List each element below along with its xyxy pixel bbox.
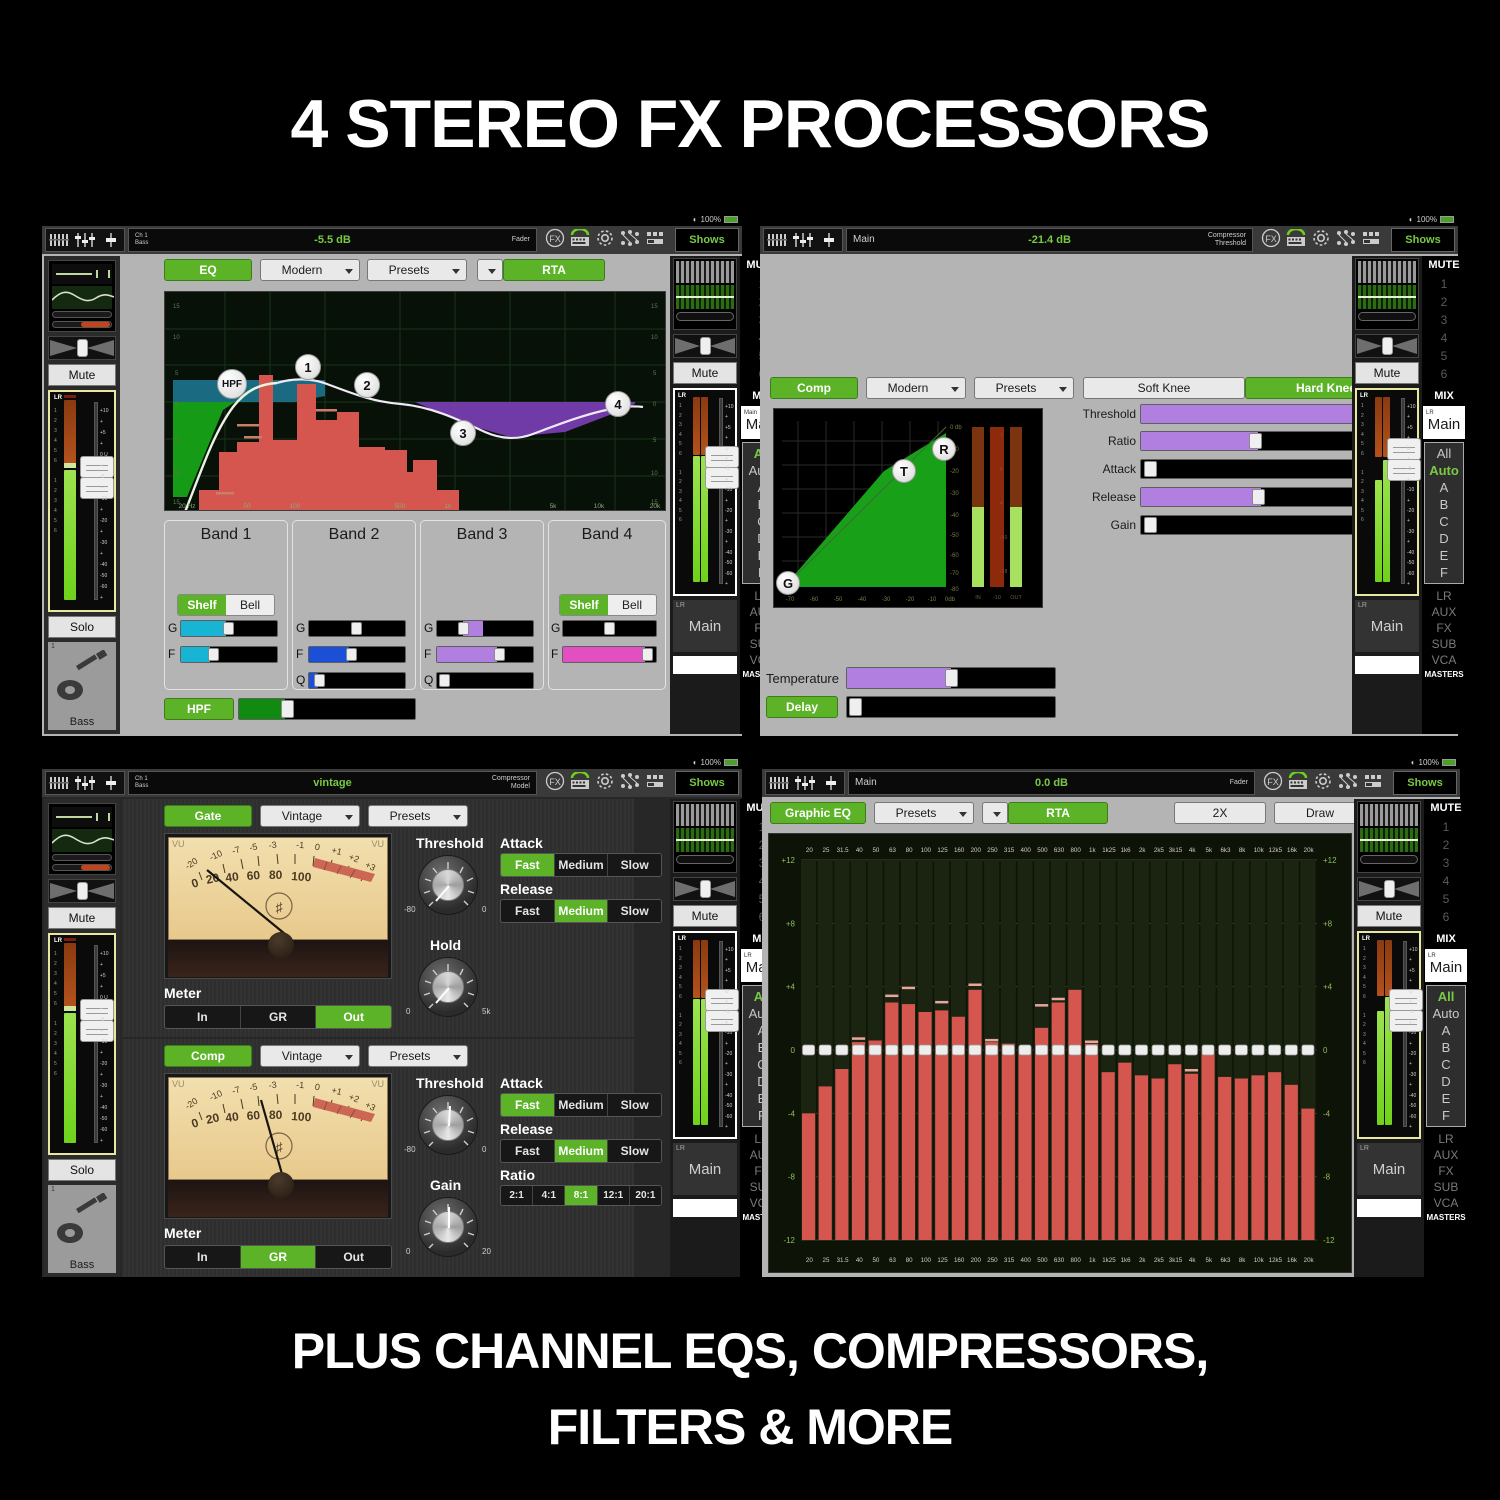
svg-text:0: 0 (314, 1082, 320, 1093)
keyboard-icon[interactable] (569, 772, 591, 795)
comp2-model-select[interactable]: Vintage (260, 1045, 360, 1067)
svg-text:125: 125 (937, 847, 948, 854)
param-name-2: Compressor (1208, 232, 1246, 240)
mute-button-right-4[interactable]: Mute (1357, 905, 1421, 927)
svg-text:1k25: 1k25 (1102, 1257, 1116, 1264)
mix-item-c-4[interactable]: C (1427, 1056, 1465, 1073)
gate-attack-medium[interactable]: Medium (555, 854, 609, 876)
channels-icon[interactable] (766, 772, 792, 794)
gate-attack-label: Attack (500, 835, 543, 851)
mute-numbers-2[interactable]: 123456 (1422, 275, 1466, 383)
mix-item-f-2[interactable]: F (1425, 564, 1463, 581)
svg-text:160: 160 (954, 847, 965, 854)
gate-meter-out[interactable]: Out (316, 1006, 391, 1028)
band-2-q-slider[interactable] (308, 672, 406, 689)
svg-text:25: 25 (823, 847, 830, 854)
rta-toggle-button[interactable]: RTA (503, 259, 605, 281)
mix-item-d-4[interactable]: D (1427, 1073, 1465, 1090)
mix-item-a-2[interactable]: A (1425, 479, 1463, 496)
svg-text:FX: FX (1267, 777, 1279, 787)
comp-presets-select[interactable]: Presets (974, 377, 1074, 399)
svg-text:250: 250 (987, 1257, 998, 1264)
channels-icon[interactable] (764, 229, 790, 251)
geq-draw-button[interactable]: Draw (1274, 802, 1366, 824)
bus-sub-4[interactable]: SUB (1424, 1179, 1468, 1195)
comp2-presets-select[interactable]: Presets (368, 1045, 468, 1067)
mix-bottom-list-2[interactable]: LR AUX FX SUB VCA (1422, 588, 1466, 668)
gate-hold-min: 0 (406, 1007, 410, 1016)
band-2: Band 2 G F Q (292, 520, 416, 690)
band-2-g-label: G (296, 621, 305, 635)
mix-main-2[interactable]: Main (1423, 416, 1465, 433)
svg-text:50: 50 (243, 503, 251, 510)
svg-text:2k: 2k (1139, 847, 1146, 854)
svg-text:400: 400 (1021, 847, 1032, 854)
bus-sub-2[interactable]: SUB (1422, 636, 1466, 652)
battery-percent: 100% (701, 215, 721, 224)
gate-meter-label: Meter (164, 985, 201, 1001)
svg-text:12k5: 12k5 (1269, 847, 1283, 854)
mixer-icon[interactable] (72, 229, 98, 251)
ratio-8-1[interactable]: 8:1 (565, 1186, 597, 1205)
pan-control-right[interactable] (673, 334, 737, 358)
svg-text:40: 40 (856, 847, 863, 854)
comp-release-segment[interactable]: Fast Medium Slow (500, 1139, 662, 1163)
svg-text:4: 4 (1000, 501, 1003, 507)
channel-source-tile-3[interactable]: 1 Bass (48, 1185, 116, 1273)
mix-main-4[interactable]: Main (1425, 959, 1467, 976)
comp-threshold-knob[interactable] (418, 1095, 478, 1155)
pan-control-3[interactable] (48, 879, 116, 903)
pan-control-right-4[interactable] (1357, 877, 1421, 901)
gate-release-medium[interactable]: Medium (555, 900, 609, 922)
channel-info-bar[interactable]: Ch 1Bass -5.5 dB Fader (128, 228, 537, 252)
fader-icon[interactable] (98, 772, 124, 794)
comp-meter-gr[interactable]: GR (241, 1246, 317, 1268)
channel-info-bar-2[interactable]: Main -21.4 dB CompressorThreshold (846, 228, 1253, 252)
routing-icon[interactable] (619, 772, 641, 795)
gate-hold-knob[interactable] (418, 957, 478, 1017)
svg-text:-70: -70 (950, 571, 959, 577)
source-number: 1 (51, 643, 55, 650)
keyboard-icon[interactable] (569, 229, 591, 252)
fader-area-right[interactable]: LR 123456123456 +10++5+U+-5+-10+-20+-30+… (673, 388, 737, 596)
meters-icon[interactable] (645, 230, 667, 251)
status-bar-2: ◐ 100% (760, 212, 1458, 226)
comp-meter-in[interactable]: In (165, 1246, 241, 1268)
mini-display-right-2[interactable] (1355, 258, 1419, 330)
comp-threshold-min: -80 (404, 1145, 416, 1154)
main-tile-right-2[interactable]: LR Main (1355, 600, 1419, 652)
fader-icon[interactable] (98, 229, 124, 251)
comp-vu-meter[interactable]: -20-10 -7-5 -3-1 0+1 +2+3 (164, 1073, 392, 1219)
meters-icon[interactable] (645, 773, 667, 794)
gate-vu-meter[interactable]: -20-10 -7-5 -3-1 0+1 +2+3 (164, 833, 392, 979)
geq-zoom-2x-button[interactable]: 2X (1174, 802, 1266, 824)
mix-item-auto-2[interactable]: Auto (1425, 462, 1463, 479)
gear-icon[interactable] (1313, 771, 1333, 796)
band-2-g-slider[interactable] (308, 620, 406, 637)
comp-node-r[interactable]: R (932, 437, 956, 461)
geq-rta-dropdown[interactable] (982, 802, 1008, 824)
source-name: Bass (48, 716, 116, 728)
band-3-f-slider[interactable] (436, 646, 534, 663)
masters-label-2: MASTERS (1422, 670, 1466, 679)
fx-icon[interactable]: FX (545, 228, 565, 253)
channel-info-bar-4[interactable]: Main 0.0 dB Fader (848, 771, 1255, 795)
mix-item-auto-4[interactable]: Auto (1427, 1005, 1465, 1022)
svg-text:1k25: 1k25 (1102, 847, 1116, 854)
gate-toggle-button[interactable]: Gate (164, 805, 252, 827)
band-1-f-slider[interactable] (180, 646, 278, 663)
svg-text:+8: +8 (786, 919, 796, 928)
fader-area[interactable]: LR 123456123456 +10++5+0 U+-5+-10+-20+-3… (48, 390, 116, 612)
svg-text:6: 6 (1000, 467, 1003, 473)
band-3-g-slider[interactable] (436, 620, 534, 637)
svg-text:-40: -40 (950, 513, 959, 519)
fader-area-right-2[interactable]: LR 123456123456 +10++5+U+-5+-10+-20+-30+… (1355, 388, 1419, 596)
view-mode-group[interactable] (45, 228, 125, 252)
wifi-icon: ◐ (693, 758, 698, 767)
band-3-q-slider[interactable] (436, 672, 534, 689)
svg-text:800: 800 (1070, 1257, 1081, 1264)
fx-icon[interactable]: FX (545, 771, 565, 796)
comp-attack-fast[interactable]: Fast (501, 1094, 555, 1116)
svg-text:-30: -30 (882, 597, 891, 603)
svg-text:+12: +12 (781, 856, 795, 865)
comp-node-g[interactable]: G (776, 571, 800, 595)
svg-text:-30: -30 (950, 491, 959, 497)
gate-meter-gr[interactable]: GR (241, 1006, 317, 1028)
ratio-12-1[interactable]: 12:1 (598, 1186, 630, 1205)
mixer-icon[interactable] (792, 772, 818, 794)
gear-icon[interactable] (595, 228, 615, 253)
hpf-button[interactable]: HPF (164, 698, 234, 720)
comp-attack-medium[interactable]: Medium (555, 1094, 609, 1116)
delay-button[interactable]: Delay (766, 696, 838, 718)
param-sub-2: Threshold (1208, 240, 1246, 248)
status-bar: ◐ 100% (42, 212, 742, 226)
view-mode-group-3[interactable] (45, 771, 125, 795)
fader-area-right-3[interactable]: LR 123456123456 +10++5+U+-5+-10+-20+-30+… (673, 931, 737, 1139)
gear-icon[interactable] (595, 771, 615, 796)
comp-release-slow[interactable]: Slow (608, 1140, 661, 1162)
mix-bus-list-4[interactable]: All Auto A B C D E F (1426, 985, 1466, 1127)
shows-button[interactable]: Shows (675, 228, 739, 252)
bass-guitar-icon (48, 1193, 114, 1251)
masters-label-4: MASTERS (1424, 1213, 1468, 1222)
main-tile-right-3[interactable]: LR Main (673, 1143, 737, 1195)
ratio-4-1[interactable]: 4:1 (533, 1186, 565, 1205)
band-1-f-label: F (168, 647, 175, 661)
mini-display-right-4[interactable] (1357, 801, 1421, 873)
comp-attack-slow[interactable]: Slow (608, 1094, 661, 1116)
lr-label-right-4: LR (1362, 936, 1370, 942)
svg-text:25: 25 (823, 1257, 830, 1264)
gate-model-select[interactable]: Vintage (260, 805, 360, 827)
mixer-icon[interactable] (790, 229, 816, 251)
svg-text:10: 10 (173, 471, 180, 477)
geq-presets-select[interactable]: Presets (874, 802, 974, 824)
svg-text:0db: 0db (945, 597, 956, 603)
svg-text:5: 5 (175, 371, 179, 377)
gate-attack-segment[interactable]: Fast Medium Slow (500, 853, 662, 877)
eq-curve-graph[interactable]: 15105 051015 15105 051015 20 Hz50100 500… (164, 291, 666, 511)
svg-text:-10: -10 (993, 595, 1001, 601)
svg-text:0: 0 (791, 1046, 796, 1055)
bus-aux-2[interactable]: AUX (1422, 604, 1466, 620)
graphic-eq-toggle-button[interactable]: Graphic EQ (770, 802, 866, 824)
channels-icon[interactable] (46, 229, 72, 251)
mixer-icon[interactable] (72, 772, 98, 794)
routing-icon[interactable] (1337, 772, 1359, 795)
band-2-title: Band 2 (293, 521, 415, 544)
svg-text:-8: -8 (788, 1173, 796, 1182)
svg-text:7: 7 (1000, 433, 1003, 439)
band-4-f-slider[interactable] (562, 646, 657, 663)
comp2-toggle-button[interactable]: Comp (164, 1045, 252, 1067)
ratio-2-1[interactable]: 2:1 (501, 1186, 533, 1205)
mini-display-right[interactable] (673, 258, 737, 330)
fader-area-3[interactable]: LR 123456123456 +10++5+0 U+-5+-10+-20+-3… (48, 933, 116, 1155)
mute-button[interactable]: Mute (48, 364, 116, 386)
status-bar-4: ◐ 100% (762, 755, 1460, 769)
bus-lr-4[interactable]: LR (1424, 1131, 1468, 1147)
svg-text:-40: -40 (858, 597, 867, 603)
mix-item-c-2[interactable]: C (1425, 513, 1463, 530)
mix-item-b-2[interactable]: B (1425, 496, 1463, 513)
comp-transfer-graph[interactable]: 0 db-10-20-30-40-50-60-70-80 -70-60-50-4… (773, 408, 1043, 608)
eq-node-1[interactable]: 1 (295, 354, 321, 380)
gate-presets-select[interactable]: Presets (368, 805, 468, 827)
eq-node-2[interactable]: 2 (354, 372, 380, 398)
svg-text:FX: FX (549, 777, 561, 787)
ratio-20-1[interactable]: 20:1 (630, 1186, 661, 1205)
eq-model-select[interactable]: Modern (260, 259, 360, 281)
comp-meter-out[interactable]: Out (316, 1246, 391, 1268)
svg-text:FX: FX (1265, 234, 1277, 244)
gate-meter-in[interactable]: In (165, 1006, 241, 1028)
status-bar-3: ◐ 100% (42, 755, 742, 769)
fader-area-right-4[interactable]: LR 123456123456 +10++5+U+-5+-10+-20+-30+… (1357, 931, 1421, 1139)
channel-value: -5.5 dB (129, 234, 536, 246)
mix-item-a-4[interactable]: A (1427, 1022, 1465, 1039)
svg-text:+4: +4 (1323, 983, 1333, 992)
svg-text:-60: -60 (810, 597, 819, 603)
mix-item-e-2[interactable]: E (1425, 547, 1463, 564)
band-1-shelf[interactable]: Shelf (178, 595, 226, 615)
rta-dropdown[interactable] (477, 259, 503, 281)
view-mode-group-4[interactable] (765, 771, 845, 795)
fx-icon[interactable]: FX (1261, 228, 1281, 253)
mix-item-all-4[interactable]: All (1427, 988, 1465, 1005)
gate-release-fast[interactable]: Fast (501, 900, 555, 922)
comp-release-fast[interactable]: Fast (501, 1140, 555, 1162)
band-4-shelf[interactable]: Shelf (560, 595, 608, 615)
channel-source-tile[interactable]: 1 Bass (48, 642, 116, 730)
keyboard-icon[interactable] (1285, 229, 1307, 252)
bus-vca-4[interactable]: VCA (1424, 1195, 1468, 1211)
svg-text:+4: +4 (786, 983, 796, 992)
mute-button-3[interactable]: Mute (48, 907, 116, 929)
pan-control-right-3[interactable] (673, 877, 737, 901)
meters-icon[interactable] (1361, 230, 1383, 251)
shows-button-4[interactable]: Shows (1393, 771, 1457, 795)
mix-item-all-2[interactable]: All (1425, 445, 1463, 462)
svg-text:2k5: 2k5 (1154, 1257, 1165, 1264)
svg-text:10: 10 (651, 335, 658, 341)
eq-presets-select[interactable]: Presets (367, 259, 467, 281)
svg-text:100: 100 (291, 869, 312, 884)
comp-toggle-button[interactable]: Comp (770, 377, 858, 399)
graphic-eq-display[interactable]: +12+12+8+8+4+400-4-4-8-8-12-122020252531… (768, 833, 1352, 1273)
svg-text:80: 80 (906, 847, 913, 854)
battery-percent: 100% (1419, 758, 1439, 767)
channel-info-bar-3[interactable]: Ch 1Bass vintage CompressorModel (128, 771, 537, 795)
mix-item-f-4[interactable]: F (1427, 1107, 1465, 1124)
shows-button-3[interactable]: Shows (675, 771, 739, 795)
svg-text:♯: ♯ (276, 899, 284, 915)
pan-control-right-2[interactable] (1355, 334, 1419, 358)
delay-slider[interactable] (846, 696, 1056, 718)
routing-icon[interactable] (619, 229, 641, 252)
eq-node-3[interactable]: 3 (450, 420, 476, 446)
eq-node-hpf[interactable]: HPF (217, 369, 247, 399)
solo-button[interactable]: Solo (48, 616, 116, 638)
gate-attack-slow[interactable]: Slow (608, 854, 661, 876)
gate-release-slow[interactable]: Slow (608, 900, 661, 922)
svg-text:-4: -4 (1323, 1109, 1331, 1118)
comp-gain-max: 20 (482, 1247, 491, 1256)
shows-button-2[interactable]: Shows (1391, 228, 1455, 252)
comp-model-select[interactable]: Modern (866, 377, 966, 399)
mute-button-right-2[interactable]: Mute (1355, 362, 1419, 384)
band-4-g-slider[interactable] (562, 620, 657, 637)
gear-icon[interactable] (1311, 228, 1331, 253)
routing-icon[interactable] (1335, 229, 1357, 252)
svg-text:63: 63 (889, 1257, 896, 1264)
svg-text:60: 60 (246, 1108, 261, 1123)
comp-release-medium[interactable]: Medium (555, 1140, 609, 1162)
mix-item-e-4[interactable]: E (1427, 1090, 1465, 1107)
mini-display-3[interactable] (48, 803, 116, 875)
mix-bottom-list-4[interactable]: LR AUX FX SUB VCA (1424, 1131, 1468, 1211)
band-4-bell[interactable]: Bell (608, 595, 656, 615)
band-3-f-label: F (424, 647, 431, 661)
main-tile-right-4[interactable]: LR Main (1357, 1143, 1421, 1195)
main-tile-lr-3: LR (676, 1145, 685, 1152)
svg-text:-12: -12 (1323, 1236, 1335, 1245)
comp-navbar: Main -21.4 dB CompressorThreshold FX Sho… (760, 226, 1458, 254)
svg-text:-10: -10 (928, 597, 937, 603)
comp-vu-right-label: VU (371, 1079, 384, 1089)
svg-text:31.5: 31.5 (837, 1257, 850, 1264)
channel-mode-4: Fader (1230, 779, 1248, 787)
footer-line-1: PLUS CHANNEL EQS, COMPRESSORS, (0, 1322, 1500, 1380)
mini-display-right-3[interactable] (673, 801, 737, 873)
fader-icon[interactable] (816, 229, 842, 251)
gate-attack-fast[interactable]: Fast (501, 854, 555, 876)
mute-numbers-4[interactable]: 123456 (1424, 818, 1468, 926)
svg-text:-10: -10 (1000, 535, 1007, 541)
svg-text:31.5: 31.5 (837, 847, 850, 854)
mix-item-b-4[interactable]: B (1427, 1039, 1465, 1056)
eq-node-4[interactable]: 4 (605, 391, 631, 417)
main-tile-name-4: Main (1357, 1161, 1421, 1178)
geq-rta-toggle[interactable]: RTA (1008, 802, 1108, 824)
comp-gain-knob[interactable] (418, 1197, 478, 1257)
mix-bus-list-2[interactable]: All Auto A B C D E F (1424, 442, 1464, 584)
view-mode-group-2[interactable] (763, 228, 843, 252)
comp-node-t[interactable]: T (892, 459, 916, 483)
main-tile-name: Main (673, 618, 737, 635)
mini-display[interactable] (48, 260, 116, 332)
bus-fx-2[interactable]: FX (1422, 620, 1466, 636)
bus-vca-2[interactable]: VCA (1422, 652, 1466, 668)
svg-text:10k: 10k (1254, 1257, 1265, 1264)
fx-icon[interactable]: FX (1263, 771, 1283, 796)
band-1: Band 1 Shelf Bell G F (164, 520, 288, 690)
main-tile-name-2: Main (1355, 618, 1419, 635)
mute-header-2: MUTE (1422, 259, 1466, 271)
band-1-g-label: G (168, 621, 177, 635)
source-number-3: 1 (51, 1186, 55, 1193)
battery-icon (724, 216, 738, 223)
comp-meter-segment[interactable]: In GR Out (164, 1245, 392, 1269)
band-4-shape-toggle[interactable]: Shelf Bell (559, 594, 657, 616)
svg-text:50: 50 (872, 1257, 879, 1264)
geq-navbar: Main 0.0 dB Fader FX Shows (762, 769, 1460, 797)
meters-icon[interactable] (1363, 773, 1385, 794)
mix-header-4: MIX (1424, 933, 1468, 945)
bus-lr-2[interactable]: LR (1422, 588, 1466, 604)
mute-button-right-3[interactable]: Mute (673, 905, 737, 927)
band-2-f-slider[interactable] (308, 646, 406, 663)
soft-knee-button[interactable]: Soft Knee (1083, 377, 1245, 399)
fader-icon[interactable] (818, 772, 844, 794)
gate-meter-segment[interactable]: In GR Out (164, 1005, 392, 1029)
comp-mix-column: MUTE 123456 MIX LR Main All Auto A B C D… (1422, 256, 1466, 734)
solo-button-3[interactable]: Solo (48, 1159, 116, 1181)
band-1-shape-toggle[interactable]: Shelf Bell (177, 594, 275, 616)
hpf-slider[interactable] (238, 698, 416, 720)
band-3: Band 3 G F Q (420, 520, 544, 690)
comp-ratio-segment[interactable]: 2:1 4:1 8:1 12:1 20:1 (500, 1185, 662, 1206)
band-1-g-slider[interactable] (180, 620, 278, 637)
mute-button-right[interactable]: Mute (673, 362, 737, 384)
bus-fx-4[interactable]: FX (1424, 1163, 1468, 1179)
pan-control[interactable] (48, 336, 116, 360)
svg-text:200: 200 (971, 847, 982, 854)
gate-release-segment[interactable]: Fast Medium Slow (500, 899, 662, 923)
strip-footer-4 (1357, 1199, 1421, 1217)
mix-item-d-2[interactable]: D (1425, 530, 1463, 547)
bass-guitar-icon (48, 650, 114, 708)
channels-icon[interactable] (46, 772, 72, 794)
bus-aux-4[interactable]: AUX (1424, 1147, 1468, 1163)
band-1-bell[interactable]: Bell (226, 595, 274, 615)
gate-threshold-knob[interactable] (418, 855, 478, 915)
svg-text:0: 0 (190, 875, 201, 890)
eq-toggle-button[interactable]: EQ (164, 259, 252, 281)
battery-icon (1440, 216, 1454, 223)
band-3-q-label: Q (424, 673, 433, 687)
keyboard-icon[interactable] (1287, 772, 1309, 795)
comp-attack-segment[interactable]: Fast Medium Slow (500, 1093, 662, 1117)
svg-text:6k3: 6k3 (1220, 1257, 1231, 1264)
main-tile-right[interactable]: LR Main (673, 600, 737, 652)
temperature-slider[interactable] (846, 667, 1056, 689)
